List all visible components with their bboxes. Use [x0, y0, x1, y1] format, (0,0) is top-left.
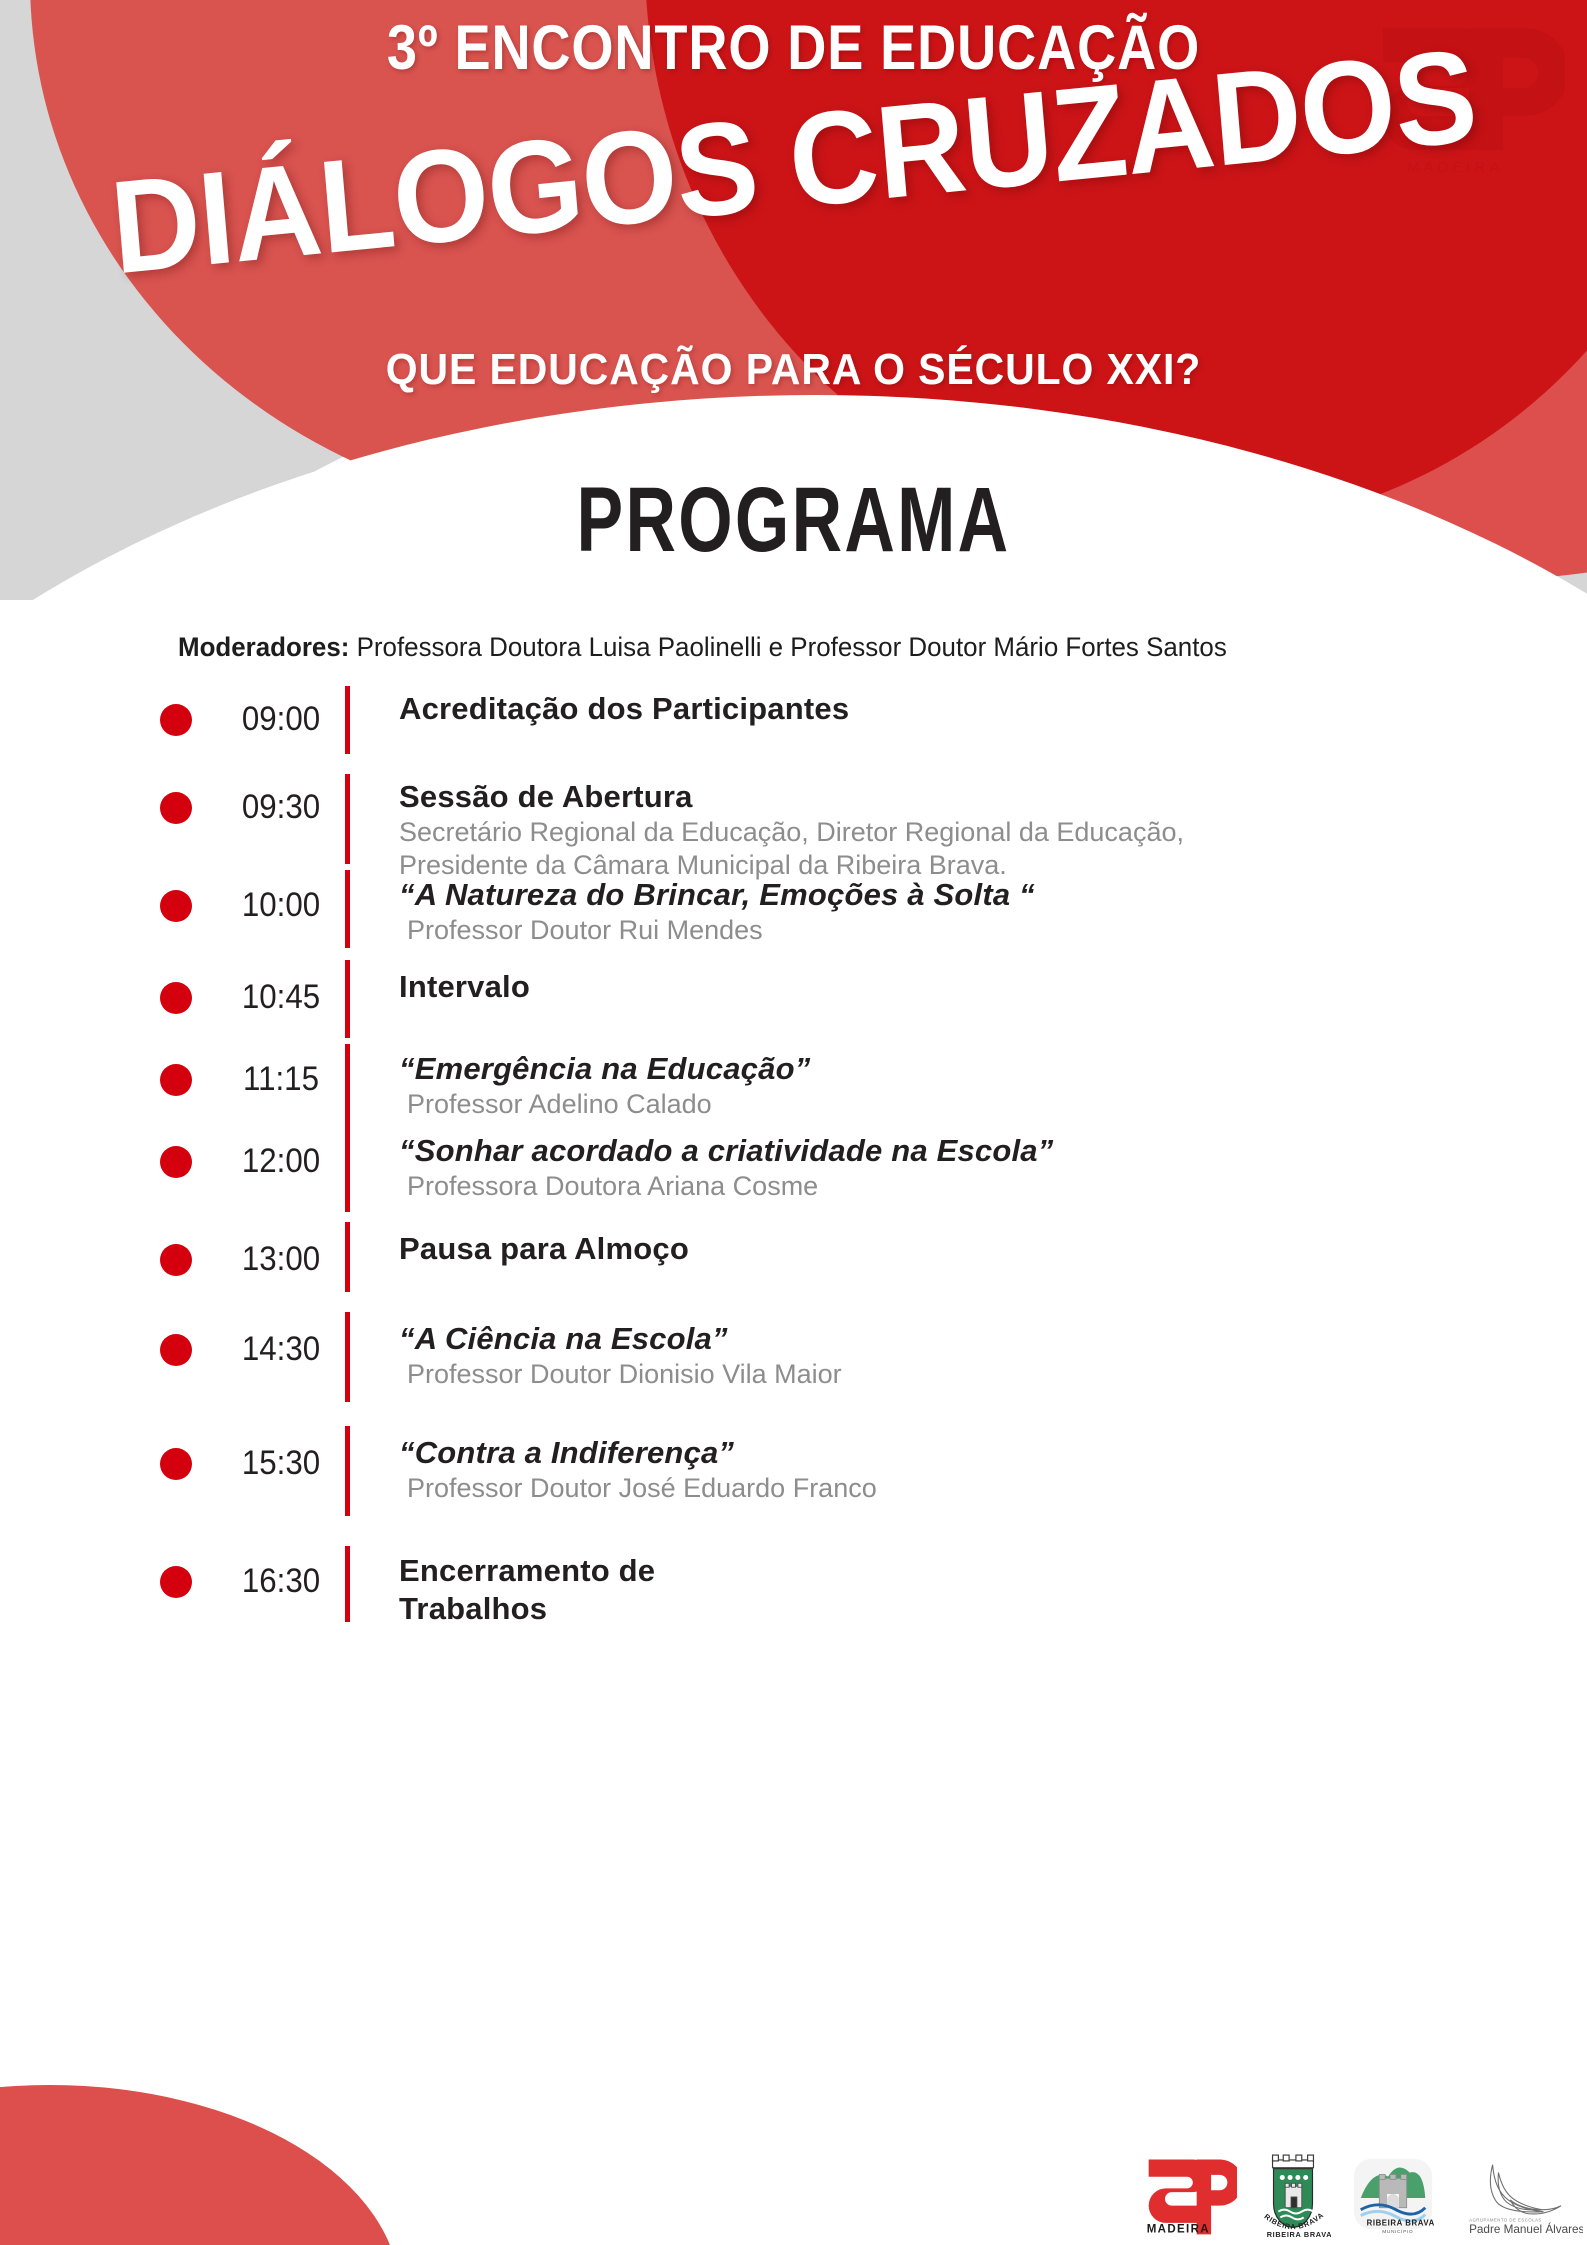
ribeira-brava-municipio-logo: RIBEIRA BRAVA MUNICÍPIO — [1348, 2150, 1438, 2242]
padre-manuel-alvares-subcaption: AGRUPAMENTO DE ESCOLAS — [1469, 2217, 1542, 2222]
schedule-entry-body: Acreditação dos Participantes — [399, 690, 1529, 728]
schedule-entry-title: “Contra a Indiferença” — [399, 1434, 1529, 1472]
schedule-entry-speaker: Professor Doutor Dionisio Vila Maior — [399, 1358, 1529, 1391]
schedule-entry-title: Sessão de Abertura — [399, 778, 1529, 816]
event-subtitle: QUE EDUCAÇÃO PARA O SÉCULO XXI? — [56, 345, 1532, 395]
schedule-entry-speaker: Professor Adelino Calado — [399, 1088, 1529, 1121]
schedule-row-divider — [345, 1222, 350, 1292]
schedule-row-divider — [345, 1044, 350, 1124]
schedule-row-divider — [345, 1312, 350, 1402]
schedule-entry-title: “A Ciência na Escola” — [399, 1320, 1529, 1358]
schedule-entry-body: “Emergência na Educação”Professor Adelin… — [399, 1050, 1529, 1121]
sp-madeira-logo: MADEIRA — [1140, 2150, 1238, 2242]
moderators-label: Moderadores: — [178, 632, 349, 662]
schedule-row-divider — [345, 1426, 350, 1516]
footer-logo-strip: MADEIRA — [1140, 2142, 1587, 2242]
schedule-time: 09:30 — [220, 788, 341, 827]
schedule-bullet-icon — [160, 1566, 192, 1598]
schedule-bullet-icon — [160, 704, 192, 736]
schedule-entry-speaker: Secretário Regional da Educação, Diretor… — [399, 816, 1529, 849]
schedule-entry-title: Pausa para Almoço — [399, 1230, 1529, 1268]
schedule-row-divider — [345, 1124, 350, 1212]
schedule-time: 16:30 — [220, 1562, 341, 1601]
schedule-entry-title: “Emergência na Educação” — [399, 1050, 1529, 1088]
footer-red-arc-decoration — [0, 2085, 400, 2245]
schedule-bullet-icon — [160, 1334, 192, 1366]
schedule-entry-body: Encerramento deTrabalhos — [399, 1552, 1529, 1628]
poster-root: MADEIRA 3º ENCONTRO DE EDUCAÇÃO DIÁLOGOS… — [0, 0, 1587, 2245]
schedule-entry-title: Intervalo — [399, 968, 1529, 1006]
schedule-entry-body: “Sonhar acordado a criatividade na Escol… — [399, 1132, 1529, 1203]
schedule-entry-body: “A Ciência na Escola”Professor Doutor Di… — [399, 1320, 1529, 1391]
schedule-time: 14:30 — [220, 1330, 341, 1369]
schedule-entry-speaker: Professor Doutor José Eduardo Franco — [399, 1472, 1529, 1505]
schedule-time: 12:00 — [220, 1142, 341, 1181]
schedule-entry-body: Pausa para Almoço — [399, 1230, 1529, 1268]
ribeira-brava-municipio-caption: RIBEIRA BRAVA — [1367, 2218, 1435, 2227]
schedule-bullet-icon — [160, 982, 192, 1014]
schedule-entry-title: “Sonhar acordado a criatividade na Escol… — [399, 1132, 1529, 1170]
schedule-bullet-icon — [160, 890, 192, 922]
schedule-entry-title: Acreditação dos Participantes — [399, 690, 1529, 728]
schedule-time: 15:30 — [220, 1444, 341, 1483]
schedule-time: 09:00 — [220, 700, 341, 739]
schedule-row-divider — [345, 774, 350, 864]
ribeira-brava-municipio-subcaption: MUNICÍPIO — [1382, 2228, 1413, 2235]
schedule-entry-body: Sessão de AberturaSecretário Regional da… — [399, 778, 1529, 883]
schedule-bullet-icon — [160, 1064, 192, 1096]
schedule-row-divider — [345, 960, 350, 1038]
svg-text:RIBEIRA BRAVA: RIBEIRA BRAVA — [1267, 2230, 1331, 2239]
schedule-entry-speaker: Professora Doutora Ariana Cosme — [399, 1170, 1529, 1203]
schedule-time: 13:00 — [220, 1240, 341, 1279]
schedule-entry-title: Encerramento deTrabalhos — [399, 1552, 1529, 1628]
sp-madeira-logo-caption: MADEIRA — [1147, 2223, 1210, 2235]
schedule-bullet-icon — [160, 792, 192, 824]
schedule-row-divider — [345, 870, 350, 948]
padre-manuel-alvares-caption: Padre Manuel Álvares — [1469, 2223, 1583, 2236]
schedule-time: 10:00 — [220, 886, 341, 925]
page-title: PROGRAMA — [190, 468, 1396, 573]
moderators-names: Professora Doutora Luisa Paolinelli e Pr… — [357, 632, 1227, 662]
schedule-bullet-icon — [160, 1146, 192, 1178]
ribeira-brava-coat-of-arms-logo: RIBEIRA BRAVA RIBEIRA BRAVA — [1254, 2150, 1332, 2242]
schedule-row-divider — [345, 686, 350, 754]
schedule-entry-body: “A Natureza do Brincar, Emoções à Solta … — [399, 876, 1529, 947]
padre-manuel-alvares-logo: AGRUPAMENTO DE ESCOLAS Padre Manuel Álva… — [1454, 2150, 1584, 2242]
schedule-entry-body: “Contra a Indiferença”Professor Doutor J… — [399, 1434, 1529, 1505]
schedule-entry-body: Intervalo — [399, 968, 1529, 1006]
schedule-time: 10:45 — [220, 978, 341, 1017]
schedule-entry-speaker: Professor Doutor Rui Mendes — [399, 914, 1529, 947]
schedule-time: 11:15 — [220, 1060, 341, 1099]
moderators-line: Moderadores: Professora Doutora Luisa Pa… — [178, 632, 1227, 663]
schedule-entry-title: “A Natureza do Brincar, Emoções à Solta … — [399, 876, 1529, 914]
schedule-bullet-icon — [160, 1448, 192, 1480]
schedule-row-divider — [345, 1546, 350, 1622]
schedule-bullet-icon — [160, 1244, 192, 1276]
